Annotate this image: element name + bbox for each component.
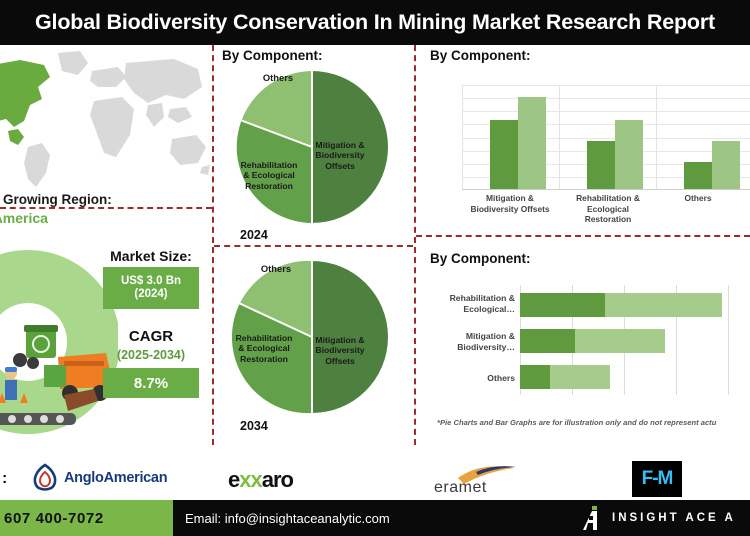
bar-rehabilitation-series1 (587, 141, 615, 189)
bar-group-others (684, 141, 740, 189)
bar-mitigation-series2 (518, 97, 546, 189)
divider-vertical-right (414, 45, 416, 445)
bar-group-mitigation (490, 97, 546, 189)
pie-2034-label-rehabilitation: Rehabilitation& EcologicalRestoration (222, 333, 306, 364)
pie-2034-label-others: Others (246, 263, 306, 274)
report-footer: 607 400-7072 Email: info@insightaceanaly… (0, 500, 750, 536)
fm-logo-text: F-M (642, 468, 673, 490)
infographic-body: Fastest Growing Region: North America (0, 45, 750, 455)
anglo-american-logo-text: AngloAmerican (64, 470, 167, 486)
horizontal-bar-chart (520, 285, 750, 395)
bar-rehabilitation-series2 (615, 120, 643, 189)
hbar-rehabilitation-series2 (605, 293, 722, 317)
page-title: Global Biodiversity Conservation In Mini… (35, 10, 715, 35)
pie-2024-label-others: Others (248, 72, 308, 83)
hbar-rehabilitation-series1 (520, 293, 605, 317)
hbar-others-series1 (520, 365, 550, 389)
market-size-year: (2024) (134, 288, 167, 301)
logos-prefix: : (2, 470, 7, 488)
hbar-row-others (520, 365, 610, 389)
cat-label-mitigation: Mitigation &Biodiversity Offsets (462, 193, 558, 214)
bar-others-series1 (684, 162, 712, 189)
pie-2024-label-mitigation: Mitigation &BiodiversityOffsets (302, 140, 378, 171)
cagr-period: (2025-2034) (95, 348, 207, 362)
cagr-label: CAGR (95, 328, 207, 345)
divider-horizontal-middle (214, 245, 413, 247)
cagr-value: 8.7% (134, 375, 168, 392)
hbar-others-series2 (550, 365, 610, 389)
cagr-badge: 8.7% (103, 368, 199, 398)
chart-footnote: *Pie Charts and Bar Graphs are for illus… (437, 418, 750, 427)
svg-text:eramet: eramet (434, 479, 487, 494)
column-chart-title: By Component: (430, 48, 531, 63)
market-size-value: US$ 3.0 Bn (121, 275, 181, 288)
pie-2034-label-mitigation: Mitigation &BiodiversityOffsets (302, 335, 378, 366)
column-chart (462, 85, 750, 190)
fastest-growing-region-value: North America (0, 210, 212, 226)
bar-others-series2 (712, 141, 740, 189)
pie-2034-year: 2034 (240, 419, 268, 433)
market-size-label: Market Size: (95, 248, 207, 264)
world-map-icon (0, 47, 210, 192)
hbar-label-others: Others (425, 373, 515, 384)
fm-logo: F-M (632, 461, 682, 497)
report-header: Global Biodiversity Conservation In Mini… (0, 0, 750, 45)
hbar-mitigation-series1 (520, 329, 575, 353)
footer-email[interactable]: Email: info@insightaceanalytic.com (185, 500, 390, 536)
insight-ace-brand-text: INSIGHT ACE A (612, 512, 736, 524)
hbar-row-mitigation (520, 329, 665, 353)
client-logos-strip: : AngloAmerican exxaro eramet F-M (0, 455, 750, 500)
bar-mitigation-series1 (490, 120, 518, 189)
bar-group-rehabilitation (587, 120, 643, 189)
pie-2024-year: 2024 (240, 228, 268, 242)
column-chart-category-labels: Mitigation &Biodiversity Offsets Rehabil… (462, 193, 750, 239)
exxaro-logo-text: exxaro (228, 467, 293, 493)
cat-label-rehabilitation: Rehabilitation &EcologicalRestoration (560, 193, 656, 225)
insight-ace-logo-icon (583, 506, 603, 530)
hbar-chart-title: By Component: (430, 251, 531, 266)
anglo-american-logo: AngloAmerican (30, 463, 167, 493)
footer-phone: 607 400-7072 (0, 510, 104, 527)
cat-label-others: Others (658, 193, 738, 204)
insight-ace-brand: INSIGHT ACE A (583, 500, 736, 536)
x-axis (462, 189, 750, 190)
hbar-label-mitigation: Mitigation &Biodiversity… (425, 331, 515, 353)
divider-horizontal-left (0, 207, 212, 209)
hbar-mitigation-series2 (575, 329, 665, 353)
hbar-row-rehabilitation (520, 293, 722, 317)
hbar-label-rehabilitation: Rehabilitation &Ecological… (425, 293, 515, 315)
exxaro-logo: exxaro (228, 467, 293, 493)
pie-2024-label-rehabilitation: Rehabilitation& EcologicalRestoration (228, 160, 310, 191)
eramet-logo: eramet (428, 464, 520, 494)
pie-section-title: By Component: (222, 48, 323, 63)
market-size-badge: US$ 3.0 Bn (2024) (103, 267, 199, 309)
footer-phone-block: 607 400-7072 (0, 500, 173, 536)
fastest-growing-region-label: Fastest Growing Region: (0, 192, 212, 207)
